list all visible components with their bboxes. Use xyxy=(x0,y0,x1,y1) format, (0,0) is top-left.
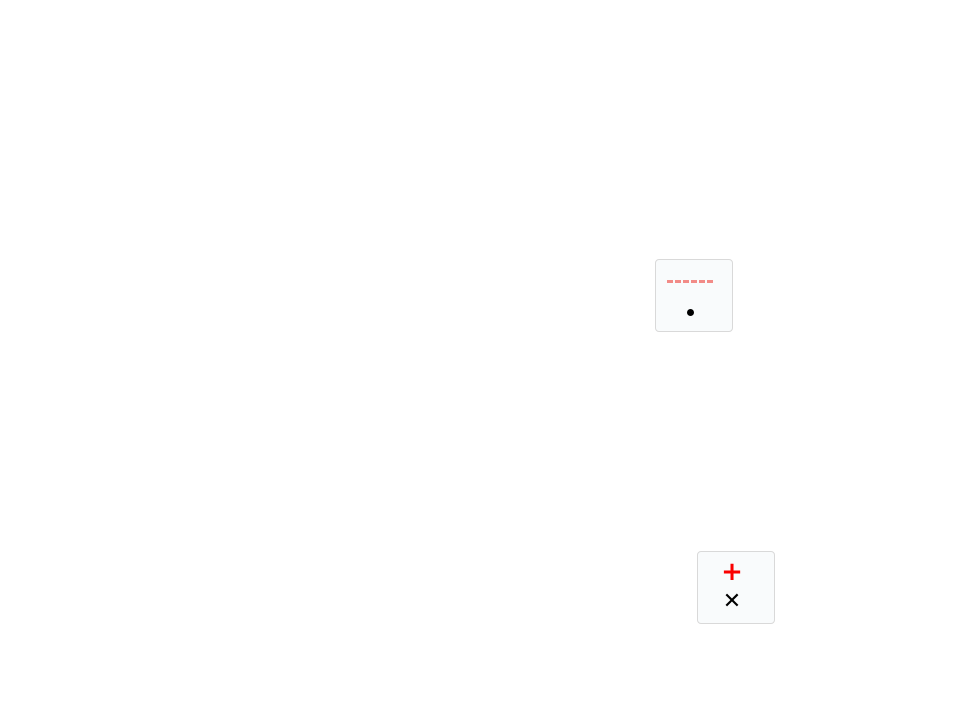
dashed-line-icon xyxy=(664,271,716,290)
legend-item-predicted-stars: ✕ xyxy=(706,587,764,617)
chart-canvas xyxy=(0,0,960,720)
cross-marker-icon: ✕ xyxy=(706,591,758,613)
top-panel-legend xyxy=(655,259,733,332)
figure-container: + ✕ xyxy=(0,0,960,720)
legend-item-matched-stars: + xyxy=(706,557,764,587)
bottom-panel-legend: + ✕ xyxy=(697,551,775,624)
dot-marker-icon xyxy=(664,301,716,320)
legend-item-threshold xyxy=(664,265,722,295)
legend-item-measurements xyxy=(664,295,722,325)
plus-marker-icon: + xyxy=(706,559,758,585)
